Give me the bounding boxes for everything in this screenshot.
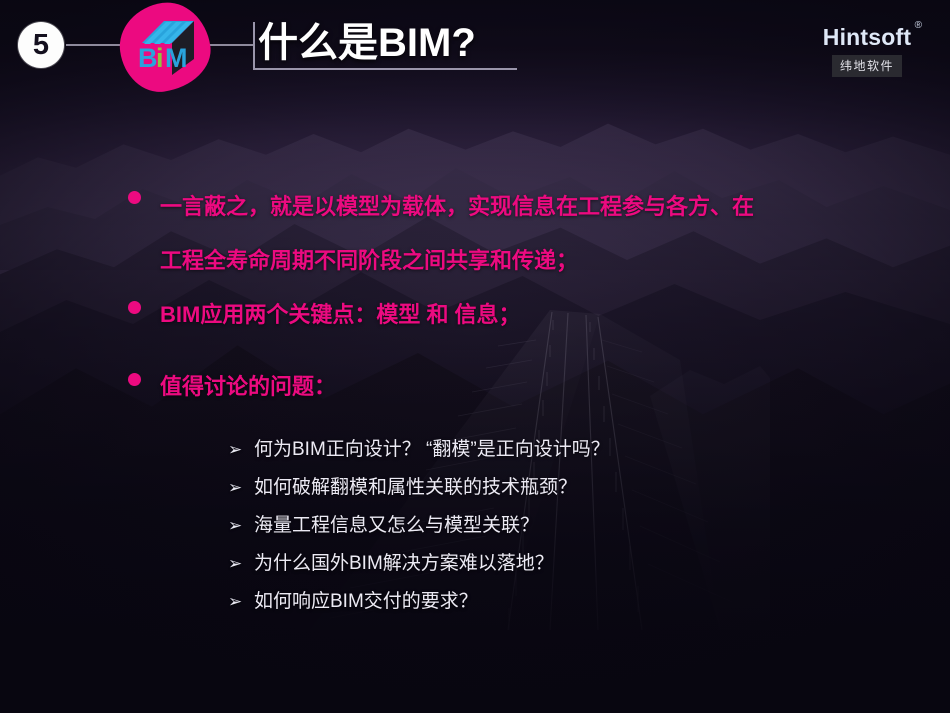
bullet-text-1-line2: 工程全寿命周期不同阶段之间共享和传递； [160, 248, 578, 273]
list-item-label: 如何破解翻模和属性关联的技术瓶颈？ [254, 478, 577, 497]
list-item-label: 如何响应BIM交付的要求？ [254, 592, 478, 611]
list-item-label: 为什么国外BIM解决方案难以落地？ [254, 554, 554, 573]
arrow-bullet-icon: ➢ [228, 441, 254, 458]
sub-question-list: ➢ 何为BIM正向设计？ “翻模”是正向设计吗？ ➢ 如何破解翻模和属性关联的技… [228, 440, 888, 630]
bullet-item-3: 值得讨论的问题： [128, 362, 728, 412]
list-item: ➢ 海量工程信息又怎么与模型关联？ [228, 516, 888, 554]
bullet-dot-icon [128, 191, 141, 204]
arrow-bullet-icon: ➢ [228, 593, 254, 610]
list-item: ➢ 何为BIM正向设计？ “翻模”是正向设计吗？ [228, 440, 888, 478]
list-item-label: 海量工程信息又怎么与模型关联？ [254, 516, 539, 535]
arrow-bullet-icon: ➢ [228, 517, 254, 534]
list-item: ➢ 如何响应BIM交付的要求？ [228, 592, 888, 630]
list-item: ➢ 如何破解翻模和属性关联的技术瓶颈？ [228, 478, 888, 516]
bullet-dot-icon [128, 373, 141, 386]
bullet-dot-icon [128, 301, 141, 314]
bullet-text-2: BIM应用两个关键点：模型 和 信息； [160, 290, 521, 340]
bullet-text-3: 值得讨论的问题： [160, 362, 336, 412]
bullet-item-2: BIM应用两个关键点：模型 和 信息； [128, 290, 728, 340]
slide-body: 一言蔽之，就是以模型为载体，实现信息在工程参与各方、在工程全寿命周期不同阶段之间… [0, 0, 950, 713]
list-item-label: 何为BIM正向设计？ “翻模”是正向设计吗？ [254, 440, 610, 459]
slide-canvas: 5 B i M [0, 0, 950, 713]
arrow-bullet-icon: ➢ [228, 479, 254, 496]
bullet-item-1: 一言蔽之，就是以模型为载体，实现信息在工程参与各方、在工程全寿命周期不同阶段之间… [128, 180, 918, 288]
bullet-text-1: 一言蔽之，就是以模型为载体，实现信息在工程参与各方、在工程全寿命周期不同阶段之间… [160, 180, 754, 288]
arrow-bullet-icon: ➢ [228, 555, 254, 572]
bullet-text-1-line1: 一言蔽之，就是以模型为载体，实现信息在工程参与各方、在 [160, 194, 754, 219]
list-item: ➢ 为什么国外BIM解决方案难以落地？ [228, 554, 888, 592]
